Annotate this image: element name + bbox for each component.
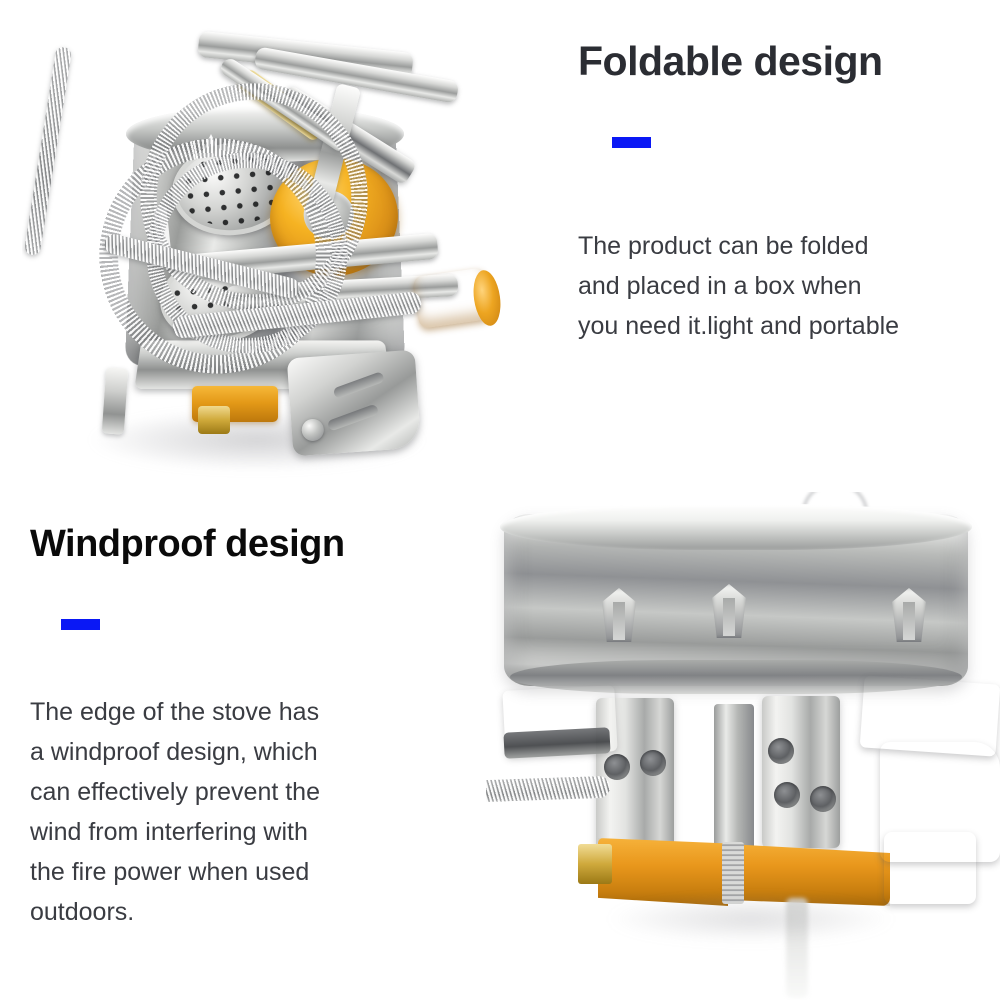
body-line: a windproof design, which (30, 732, 460, 772)
drop-shadow (606, 896, 896, 942)
tube-vent-hole (810, 786, 836, 812)
tube-vent-hole (604, 754, 630, 780)
body-line: The product can be folded (578, 226, 998, 266)
braided-hose-segment (486, 776, 610, 803)
body-line: outdoors. (30, 892, 460, 932)
panel-foldable-heading: Foldable design (578, 38, 998, 85)
body-line: can effectively prevent the (30, 772, 460, 812)
pivot-rivet (301, 418, 324, 441)
body-line: and placed in a box when (578, 266, 998, 306)
product-photo-burner-closeup (486, 492, 1000, 1000)
product-photo-folded-stove (22, 18, 502, 488)
panel-windproof-heading: Windproof design (30, 523, 460, 566)
body-line: you need it.light and portable (578, 306, 998, 346)
leg-slot (332, 371, 385, 399)
infographic-page: Foldable design The product can be folde… (0, 0, 1000, 1000)
panel-foldable-design: Foldable design The product can be folde… (578, 38, 998, 346)
panel-windproof-design: Windproof design The edge of the stove h… (30, 523, 460, 932)
bracket-shadow-bar (503, 727, 610, 759)
panel-windproof-body: The edge of the stove has a windproof de… (30, 692, 460, 932)
folded-stove-illustration (22, 18, 502, 488)
blue-accent-bar (61, 619, 100, 630)
tube-vent-hole (774, 782, 800, 808)
brass-fitting (578, 844, 612, 884)
shield-top-lip (500, 504, 972, 550)
burner-tube (762, 696, 840, 848)
tube-vent-hole (640, 750, 666, 776)
burner-closeup-illustration (486, 492, 1000, 1000)
collar-screw (722, 842, 744, 904)
body-line: the fire power when used (30, 852, 460, 892)
body-line: wind from interfering with (30, 812, 460, 852)
tube-vent-hole (768, 738, 794, 764)
panel-foldable-body: The product can be folded and placed in … (578, 226, 998, 346)
folding-leg-foot (884, 832, 976, 904)
blue-accent-bar (612, 137, 651, 148)
body-line: The edge of the stove has (30, 692, 460, 732)
orange-anodized-collar (598, 838, 728, 906)
leg-slot (327, 404, 380, 432)
center-post (714, 704, 754, 864)
brass-fitting (198, 406, 230, 434)
